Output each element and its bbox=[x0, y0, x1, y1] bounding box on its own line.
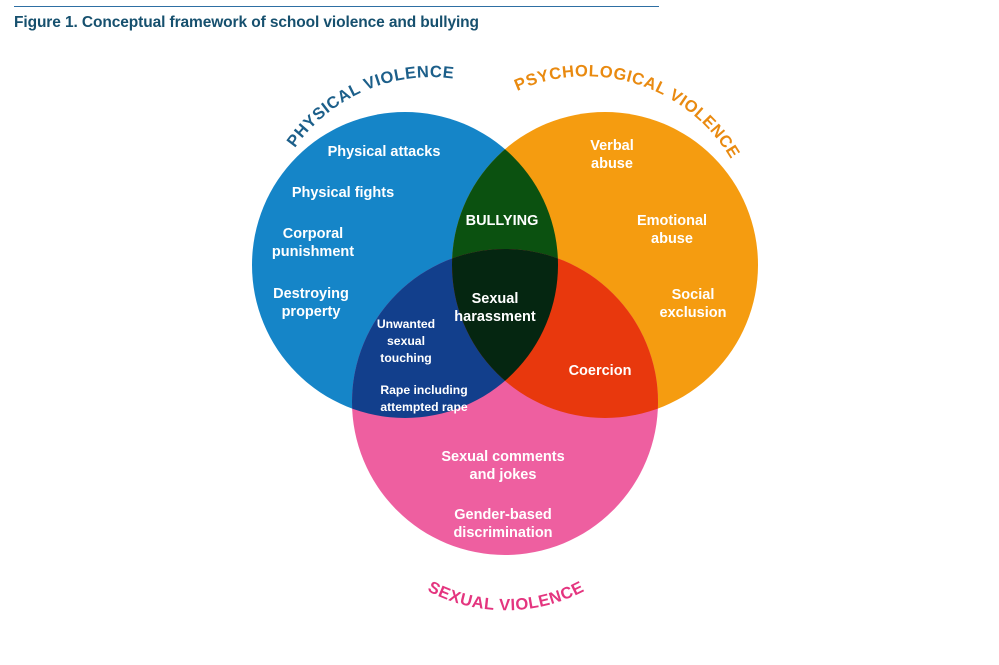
item-destroying-property-line1: Destroying bbox=[273, 286, 349, 302]
item-emotional-abuse-line1: Emotional bbox=[637, 213, 707, 229]
item-sexual-comments-line2: and jokes bbox=[470, 467, 537, 483]
item-gender-based-discrimination-line1: Gender-based bbox=[454, 507, 552, 523]
item-physical-fights: Physical fights bbox=[292, 185, 394, 201]
item-rape-line2: attempted rape bbox=[380, 400, 468, 414]
venn-svg: PHYSICAL VIOLENCE PSYCHOLOGICAL VIOLENCE… bbox=[0, 0, 999, 665]
item-sexual-comments-line1: Sexual comments bbox=[441, 449, 564, 465]
figure-container: Figure 1. Conceptual framework of school… bbox=[0, 0, 999, 665]
venn-diagram: PHYSICAL VIOLENCE PSYCHOLOGICAL VIOLENCE… bbox=[0, 0, 999, 665]
label-bullying: BULLYING bbox=[466, 213, 539, 229]
item-emotional-abuse-line2: abuse bbox=[651, 231, 693, 247]
item-social-exclusion-line2: exclusion bbox=[660, 305, 727, 321]
item-unwanted-sexual-touching-line3: touching bbox=[380, 351, 431, 365]
item-unwanted-sexual-touching-line2: sexual bbox=[387, 334, 425, 348]
item-verbal-abuse-line1: Verbal bbox=[590, 138, 634, 154]
item-corporal-punishment-line2: punishment bbox=[272, 244, 354, 260]
label-sexual-harassment-line2: harassment bbox=[454, 309, 536, 325]
item-rape-line1: Rape including bbox=[380, 383, 467, 397]
label-sexual-harassment-line1: Sexual bbox=[472, 291, 519, 307]
arc-label-sexual-violence: SEXUAL VIOLENCE bbox=[425, 578, 587, 614]
item-verbal-abuse-line2: abuse bbox=[591, 156, 633, 172]
item-corporal-punishment-line1: Corporal bbox=[283, 226, 343, 242]
item-unwanted-sexual-touching-line1: Unwanted bbox=[377, 317, 435, 331]
item-physical-attacks: Physical attacks bbox=[328, 144, 441, 160]
item-gender-based-discrimination-line2: discrimination bbox=[453, 525, 552, 541]
item-social-exclusion-line1: Social bbox=[672, 287, 715, 303]
item-destroying-property-line2: property bbox=[282, 304, 341, 320]
label-coercion: Coercion bbox=[569, 363, 632, 379]
